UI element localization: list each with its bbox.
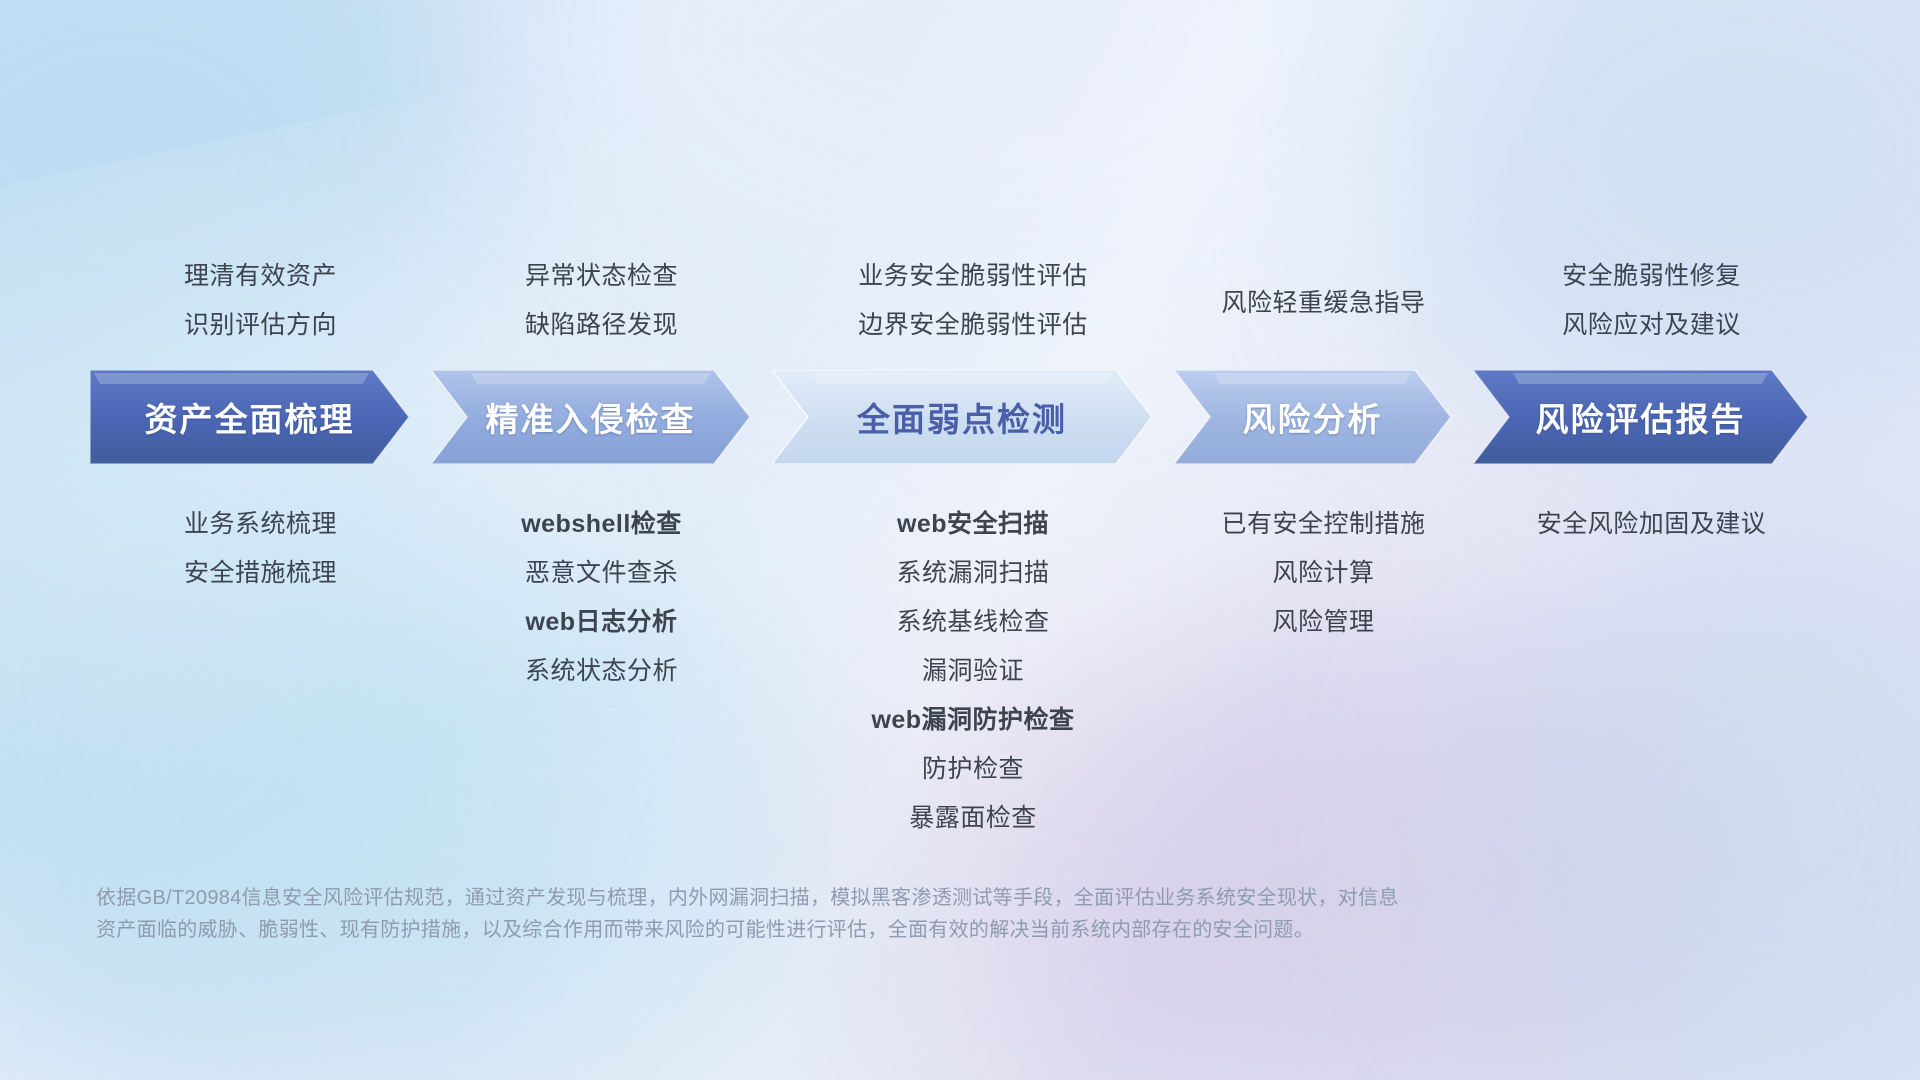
top-notes-column-3: 业务安全脆弱性评估边界安全脆弱性评估 <box>772 230 1174 350</box>
top-note-item: 风险应对及建议 <box>1473 301 1830 350</box>
bottom-list-column-1: 业务系统梳理安全措施梳理 <box>90 500 431 843</box>
top-note-item: 识别评估方向 <box>90 301 431 350</box>
top-notes-column-2: 异常状态检查缺陷路径发现 <box>431 230 772 350</box>
bottom-list-item: 业务系统梳理 <box>90 500 431 549</box>
bottom-detail-lists: 业务系统梳理安全措施梳理webshell检查恶意文件查杀web日志分析系统状态分… <box>90 500 1850 843</box>
bottom-list-item: 安全风险加固及建议 <box>1473 500 1830 549</box>
slide-canvas: 理清有效资产识别评估方向异常状态检查缺陷路径发现业务安全脆弱性评估边界安全脆弱性… <box>0 0 1920 1080</box>
process-step-4[interactable]: 风险分析 <box>1174 370 1451 464</box>
bottom-list-item: 暴露面检查 <box>772 794 1174 843</box>
bottom-list-item: 系统基线检查 <box>772 598 1174 647</box>
bottom-list-item: webshell检查 <box>431 500 772 549</box>
bottom-list-item: 风险计算 <box>1174 549 1473 598</box>
top-notes-column-1: 理清有效资产识别评估方向 <box>90 230 431 350</box>
bottom-list-item: web安全扫描 <box>772 500 1174 549</box>
process-step-label: 风险评估报告 <box>1536 393 1746 441</box>
top-note-item: 安全脆弱性修复 <box>1473 252 1830 301</box>
process-step-1[interactable]: 资产全面梳理 <box>90 370 409 464</box>
bottom-list-item: web日志分析 <box>431 598 772 647</box>
footer-line-2: 资产面临的威胁、脆弱性、现有防护措施，以及综合作用而带来风险的可能性进行评估，全… <box>96 914 1616 946</box>
process-step-label: 精准入侵检查 <box>486 393 696 441</box>
top-note-item: 业务安全脆弱性评估 <box>772 252 1174 301</box>
footer-line-1: 依据GB/T20984信息安全风险评估规范，通过资产发现与梳理，内外网漏洞扫描，… <box>96 882 1616 914</box>
bottom-list-column-3: web安全扫描系统漏洞扫描系统基线检查漏洞验证web漏洞防护检查防护检查暴露面检… <box>772 500 1174 843</box>
bottom-list-item: 风险管理 <box>1174 598 1473 647</box>
top-notes-column-4: 风险轻重缓急指导 <box>1174 230 1473 350</box>
process-step-label: 风险分析 <box>1243 393 1383 441</box>
diagram-content: 理清有效资产识别评估方向异常状态检查缺陷路径发现业务安全脆弱性评估边界安全脆弱性… <box>0 0 1920 1080</box>
bottom-list-column-4: 已有安全控制措施风险计算风险管理 <box>1174 500 1473 843</box>
bottom-list-item: 已有安全控制措施 <box>1174 500 1473 549</box>
top-note-item: 异常状态检查 <box>431 252 772 301</box>
bottom-list-item: 恶意文件查杀 <box>431 549 772 598</box>
bottom-list-column-5: 安全风险加固及建议 <box>1473 500 1830 843</box>
bottom-list-item: 系统漏洞扫描 <box>772 549 1174 598</box>
top-notes-column-5: 安全脆弱性修复风险应对及建议 <box>1473 230 1830 350</box>
process-step-2[interactable]: 精准入侵检查 <box>431 370 750 464</box>
process-chevron-band: 资产全面梳理精准入侵检查全面弱点检测风险分析风险评估报告 <box>90 370 1830 464</box>
top-notes-row: 理清有效资产识别评估方向异常状态检查缺陷路径发现业务安全脆弱性评估边界安全脆弱性… <box>90 230 1850 350</box>
process-step-5[interactable]: 风险评估报告 <box>1473 370 1808 464</box>
bottom-list-column-2: webshell检查恶意文件查杀web日志分析系统状态分析 <box>431 500 772 843</box>
process-step-label: 全面弱点检测 <box>857 393 1067 441</box>
bottom-list-item: 漏洞验证 <box>772 647 1174 696</box>
bottom-list-item: 系统状态分析 <box>431 647 772 696</box>
process-step-3[interactable]: 全面弱点检测 <box>772 370 1152 464</box>
top-note-item: 缺陷路径发现 <box>431 301 772 350</box>
bottom-list-item: web漏洞防护检查 <box>772 696 1174 745</box>
top-note-item: 边界安全脆弱性评估 <box>772 301 1174 350</box>
bottom-list-item: 安全措施梳理 <box>90 549 431 598</box>
process-step-label: 资产全面梳理 <box>145 393 355 441</box>
top-note-item: 理清有效资产 <box>90 252 431 301</box>
bottom-list-item: 防护检查 <box>772 745 1174 794</box>
footer-description: 依据GB/T20984信息安全风险评估规范，通过资产发现与梳理，内外网漏洞扫描，… <box>96 882 1616 946</box>
top-note-item: 风险轻重缓急指导 <box>1174 279 1473 328</box>
